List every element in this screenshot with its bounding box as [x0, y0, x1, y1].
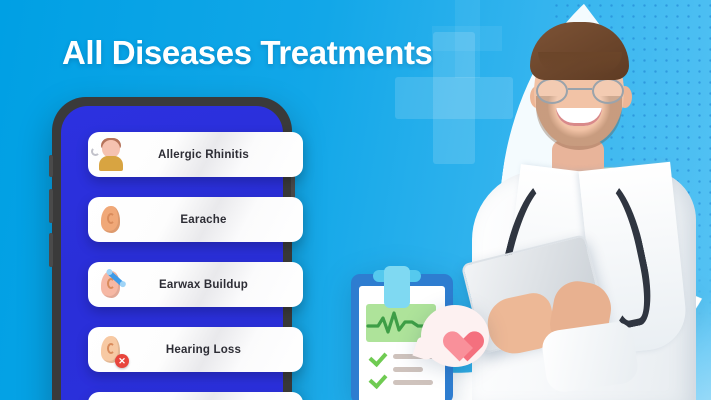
eyeglasses — [534, 78, 626, 104]
list-item-partial[interactable] — [88, 392, 303, 400]
checkmark-icon — [368, 352, 386, 366]
list-item-label: Hearing Loss — [134, 344, 303, 356]
list-item-earache[interactable]: Earache — [88, 197, 303, 242]
ear-swab-icon — [88, 262, 134, 307]
sneezing-person-icon — [88, 132, 134, 177]
heart-bubble — [421, 305, 489, 367]
disease-list: Allergic Rhinitis Earache Earwax Buildup… — [88, 132, 303, 400]
phone-volume-down-button[interactable] — [49, 233, 53, 267]
list-item-earwax-buildup[interactable]: Earwax Buildup — [88, 262, 303, 307]
list-item-allergic-rhinitis[interactable]: Allergic Rhinitis — [88, 132, 303, 177]
list-item-hearing-loss[interactable]: ✕ Hearing Loss — [88, 327, 303, 372]
page-title: All Diseases Treatments — [62, 34, 433, 72]
list-item-label: Allergic Rhinitis — [134, 149, 303, 161]
heart-icon — [437, 319, 473, 351]
phone-mute-button[interactable] — [49, 155, 53, 177]
ear-no-hearing-icon: ✕ — [88, 327, 134, 372]
banner-stage: All Diseases Treatments Allergic Rhiniti… — [0, 0, 711, 400]
phone-volume-up-button[interactable] — [49, 189, 53, 223]
ear-icon — [88, 197, 134, 242]
checkmark-icon — [368, 374, 386, 388]
list-item-label: Earache — [134, 214, 303, 226]
list-item-label: Earwax Buildup — [134, 279, 303, 291]
